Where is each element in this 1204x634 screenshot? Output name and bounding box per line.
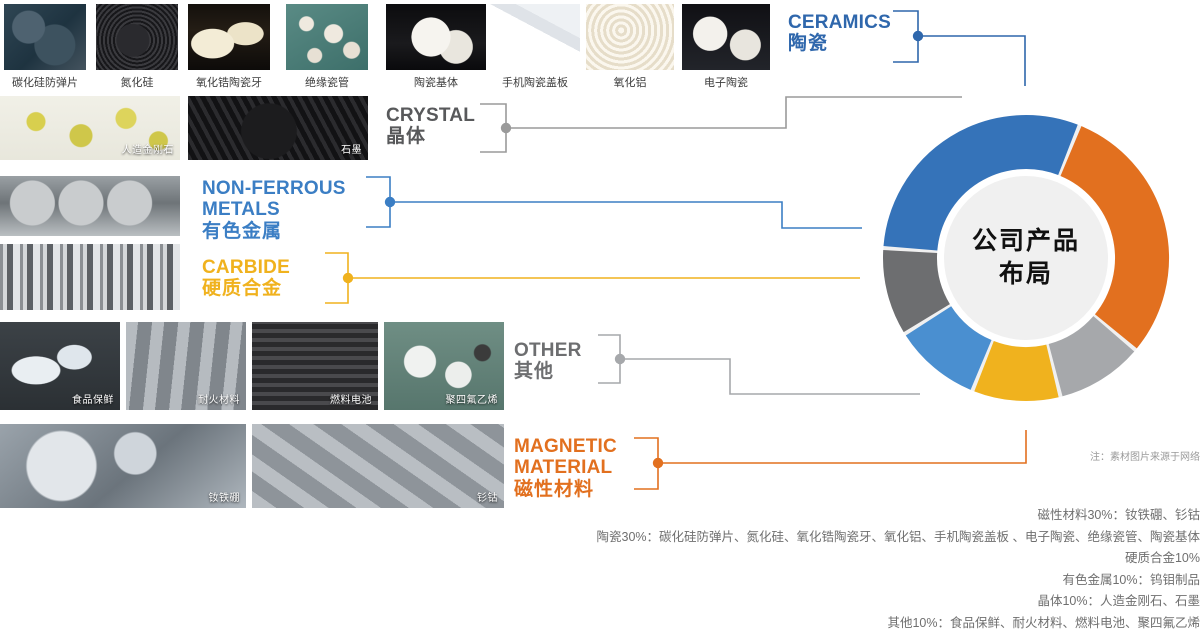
category-label-ceramics: CERAMICS 陶瓷 — [788, 12, 891, 55]
center-line-1: 公司产品 — [972, 225, 1080, 258]
center-line-2: 布局 — [999, 258, 1053, 291]
tile-caption: 燃料电池 — [330, 391, 372, 406]
tile-label: 绝缘瓷管 — [286, 74, 368, 90]
category-cn: 晶体 — [386, 126, 475, 147]
wire-ceramics — [893, 11, 1025, 86]
donut-center-label: 公司产品 布局 — [944, 176, 1108, 340]
photo-tile: 人造金刚石 — [0, 96, 180, 160]
tile-caption: 聚四氟乙烯 — [446, 391, 499, 406]
photo-tile — [188, 4, 270, 70]
tile-caption: 耐火材料 — [198, 391, 240, 406]
photo-tile — [490, 4, 580, 70]
source-note: 注：素材图片来源于网络 — [1090, 448, 1200, 463]
tile-label: 碳化硅防弹片 — [4, 74, 86, 90]
photo-tile: 钐钴 — [252, 424, 504, 508]
donut-chart: 公司产品 布局 — [852, 84, 1200, 432]
category-cn: 磁性材料 — [514, 479, 617, 500]
photo-tile — [0, 244, 180, 310]
photo-tile — [0, 176, 180, 236]
category-en: MATERIAL — [514, 457, 617, 478]
tile-label: 氮化硅 — [96, 74, 178, 90]
category-en: MAGNETIC — [514, 436, 617, 457]
photo-tile — [682, 4, 770, 70]
photo-tile: 耐火材料 — [126, 322, 246, 410]
category-en: NON-FERROUS — [202, 178, 346, 199]
photo-tile — [4, 4, 86, 70]
tile-label: 陶瓷基体 — [386, 74, 486, 90]
photo-tile — [96, 4, 178, 70]
tile-caption: 钐钴 — [477, 489, 498, 504]
node-nonferrous — [385, 197, 395, 207]
legend-list: 磁性材料30%：钕铁硼、钐钴陶瓷30%：碳化硅防弹片、氮化硅、氧化锆陶瓷牙、氧化… — [400, 505, 1200, 634]
category-cn: 其他 — [514, 361, 582, 382]
photo-tile — [386, 4, 486, 70]
category-en: CRYSTAL — [386, 105, 475, 126]
category-en: METALS — [202, 199, 346, 220]
legend-line: 陶瓷30%：碳化硅防弹片、氮化硅、氧化锆陶瓷牙、氧化铝、手机陶瓷盖板 、电子陶瓷… — [400, 527, 1200, 549]
category-cn: 有色金属 — [202, 221, 346, 242]
tile-caption: 钕铁硼 — [209, 489, 241, 504]
photo-tile: 聚四氟乙烯 — [384, 322, 504, 410]
tile-label: 氧化锆陶瓷牙 — [188, 74, 270, 90]
donut-slice-晶体 — [910, 252, 927, 319]
category-en: CERAMICS — [788, 12, 891, 33]
photo-tile: 钕铁硼 — [0, 424, 246, 508]
category-label-nonferrous: NON-FERROUS METALS 有色金属 — [202, 178, 346, 242]
tile-caption: 食品保鲜 — [72, 391, 114, 406]
photo-tile: 石墨 — [188, 96, 368, 160]
category-en: OTHER — [514, 340, 582, 361]
tile-label: 氧化铝 — [586, 74, 674, 90]
tile-label: 电子陶瓷 — [682, 74, 770, 90]
legend-line: 硬质合金10% — [400, 548, 1200, 570]
node-crystal — [501, 123, 511, 133]
category-label-magnetic: MAGNETIC MATERIAL 磁性材料 — [514, 436, 617, 500]
legend-line: 其他10%：食品保鲜、耐火材料、燃料电池、聚四氟乙烯 — [400, 613, 1200, 634]
node-magnetic — [653, 458, 663, 468]
photo-tile — [586, 4, 674, 70]
wire-nonferrous — [366, 177, 862, 228]
node-carbide — [343, 273, 353, 283]
category-label-crystal: CRYSTAL 晶体 — [386, 105, 475, 148]
legend-line: 有色金属10%：钨钼制品 — [400, 570, 1200, 592]
category-en: CARBIDE — [202, 257, 290, 278]
tile-caption: 人造金刚石 — [122, 141, 175, 156]
donut-slice-硬质合金 — [984, 366, 1052, 374]
category-cn: 陶瓷 — [788, 33, 891, 54]
donut-slice-其他 — [1056, 334, 1114, 370]
tile-label: 手机陶瓷盖板 — [490, 74, 580, 90]
category-label-other: OTHER 其他 — [514, 340, 582, 383]
photo-tile: 燃料电池 — [252, 322, 378, 410]
category-label-carbide: CARBIDE 硬质合金 — [202, 257, 290, 300]
photo-tile — [286, 4, 368, 70]
photo-tile: 食品保鲜 — [0, 322, 120, 410]
wire-carbide — [325, 253, 860, 303]
donut-slice-有色金属 — [928, 321, 981, 365]
legend-line: 晶体10%：人造金刚石、石墨 — [400, 591, 1200, 613]
legend-line: 磁性材料30%：钕铁硼、钐钴 — [400, 505, 1200, 527]
node-other — [615, 354, 625, 364]
tile-caption: 石墨 — [341, 141, 362, 156]
category-cn: 硬质合金 — [202, 278, 290, 299]
node-ceramics — [913, 31, 923, 41]
wire-magnetic — [634, 430, 1026, 489]
